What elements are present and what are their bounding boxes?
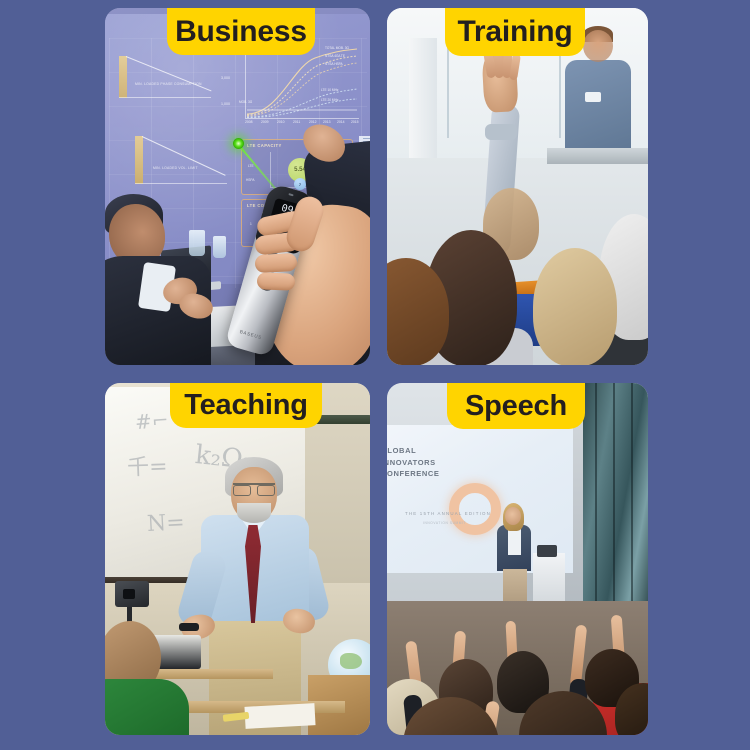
curve-svg xyxy=(245,44,359,118)
glass-mullion-1 xyxy=(595,383,597,619)
instructor-head xyxy=(583,30,613,62)
x-tick-7: 2015 xyxy=(351,120,359,124)
label-chip-business: Business xyxy=(167,8,315,55)
panel-teaching[interactable]: #⌐ 千= k₂Ω₂ N= xyxy=(105,383,370,735)
slide-ring-graphic xyxy=(449,483,501,535)
axis-label-cost: 1 xyxy=(250,222,252,226)
panel-training[interactable]: Training xyxy=(387,8,648,365)
series-note-5: MOB. 3G xyxy=(239,100,252,105)
wedge-bar xyxy=(119,56,127,98)
label-chip-business-text: Business xyxy=(175,17,307,47)
professor-beard xyxy=(237,503,271,523)
speech-photo: GLOBAL INNOVATORS CONFERENCE THE 15TH AN… xyxy=(387,383,648,735)
water-glass-1 xyxy=(189,230,205,256)
dashboard-card-title: LTE CAPACITY xyxy=(247,143,282,148)
wedge-label-1: MIN. LOADED PHASE CONSUMPTION xyxy=(135,82,202,87)
wedge-chart-1: MIN. LOADED PHASE CONSUMPTION xyxy=(119,56,211,98)
lectern-laptop xyxy=(537,545,557,557)
instructor-body xyxy=(565,60,631,156)
label-chip-teaching: Teaching xyxy=(170,383,322,428)
wedge-bar xyxy=(135,136,143,184)
slide-footnote: INNOVATION SUMMIT xyxy=(423,521,466,525)
business-photo: MIN. LOADED PHASE CONSUMPTION MIN. LOADE… xyxy=(105,8,370,365)
sleeve-cuff xyxy=(485,124,517,140)
series-note-0: TOTAL MOB. 3G xyxy=(325,46,349,51)
finger-pinky xyxy=(257,272,296,290)
label-chip-speech: Speech xyxy=(447,383,585,429)
axis-label-lte: LTE xyxy=(248,164,254,168)
glass-mullion-2 xyxy=(613,383,615,619)
label-chip-teaching-text: Teaching xyxy=(184,391,308,420)
remote-brand-mark: BASEUS xyxy=(239,329,262,340)
training-photo xyxy=(387,8,648,365)
professor-eyeglasses xyxy=(233,483,275,492)
label-chip-training: Training xyxy=(445,8,585,56)
slide-title: GLOBAL INNOVATORS CONFERENCE xyxy=(387,445,440,480)
x-tick-6: 2014 xyxy=(337,120,345,124)
instructor-name-badge xyxy=(585,92,601,102)
equation-2: 千= xyxy=(126,448,168,481)
y-axis xyxy=(245,44,246,118)
x-tick-1: 2009 xyxy=(261,120,269,124)
axis-label-hspa: HSPA xyxy=(246,178,254,182)
front-desk xyxy=(547,148,648,164)
laser-pointer-dot xyxy=(233,138,244,149)
glass-mullion-3 xyxy=(631,383,633,619)
projector-lens xyxy=(123,589,135,599)
wedge-label-2: MIN. LOADED VOL. LIMIT xyxy=(153,166,198,171)
x-tick-2: 2010 xyxy=(277,120,285,124)
wedge-chart-2: MIN. LOADED VOL. LIMIT xyxy=(135,136,227,184)
x-axis xyxy=(245,118,359,119)
remote-led-indicator xyxy=(288,193,293,196)
water-glass-2 xyxy=(213,236,226,258)
wedge-slope xyxy=(142,136,226,176)
student-green-shirt xyxy=(105,679,189,735)
panel-business[interactable]: MIN. LOADED PHASE CONSUMPTION MIN. LOADE… xyxy=(105,8,370,365)
slide-title-line-3: CONFERENCE xyxy=(387,468,440,480)
lectern xyxy=(533,553,565,605)
slide-title-line-2: INNOVATORS xyxy=(387,457,440,469)
series-note-1: NTSA 4G/LTE xyxy=(325,54,345,59)
glass-curtain-wall xyxy=(583,383,648,619)
growth-line-chart: 5,000 3,000 1,000 2008 2009 2010 2011 20… xyxy=(221,44,361,130)
wedge-slope xyxy=(126,56,212,91)
wedge-baseline xyxy=(119,97,211,98)
teaching-photo: #⌐ 千= k₂Ω₂ N= xyxy=(105,383,370,735)
x-tick-3: 2011 xyxy=(293,120,300,124)
equation-1: #⌐ xyxy=(134,408,169,434)
series-note-3: LTE 10 MHz xyxy=(321,88,338,93)
attendee-head-blonde-2 xyxy=(533,248,617,365)
speaker-blouse xyxy=(508,527,521,555)
slide-title-line-1: GLOBAL xyxy=(387,445,440,457)
x-tick-5: 2013 xyxy=(323,120,331,124)
y-tick-2: 1,000 xyxy=(221,102,230,106)
series-note-4: LTE 20 MHz xyxy=(321,98,338,103)
label-chip-speech-text: Speech xyxy=(465,392,567,421)
slide-subtitle: THE 15TH ANNUAL EDITION xyxy=(405,511,491,516)
label-chip-training-text: Training xyxy=(457,17,572,47)
speaker-head xyxy=(505,507,521,525)
equation-4: N= xyxy=(146,510,185,537)
panel-speech[interactable]: GLOBAL INNOVATORS CONFERENCE THE 15TH AN… xyxy=(387,383,648,735)
x-tick-0: 2008 xyxy=(245,120,253,124)
finger-ring xyxy=(255,253,298,273)
wedge-baseline xyxy=(135,183,227,184)
series-note-2: NTSA HSPA xyxy=(325,62,343,67)
bubble-value-2: 7 xyxy=(294,178,306,190)
scene-root: MIN. LOADED PHASE CONSUMPTION MIN. LOADE… xyxy=(0,0,750,750)
room-column xyxy=(409,38,437,158)
y-tick-1: 3,000 xyxy=(221,76,230,80)
notebook-paper xyxy=(244,703,315,729)
handheld-clicker[interactable] xyxy=(179,623,199,631)
